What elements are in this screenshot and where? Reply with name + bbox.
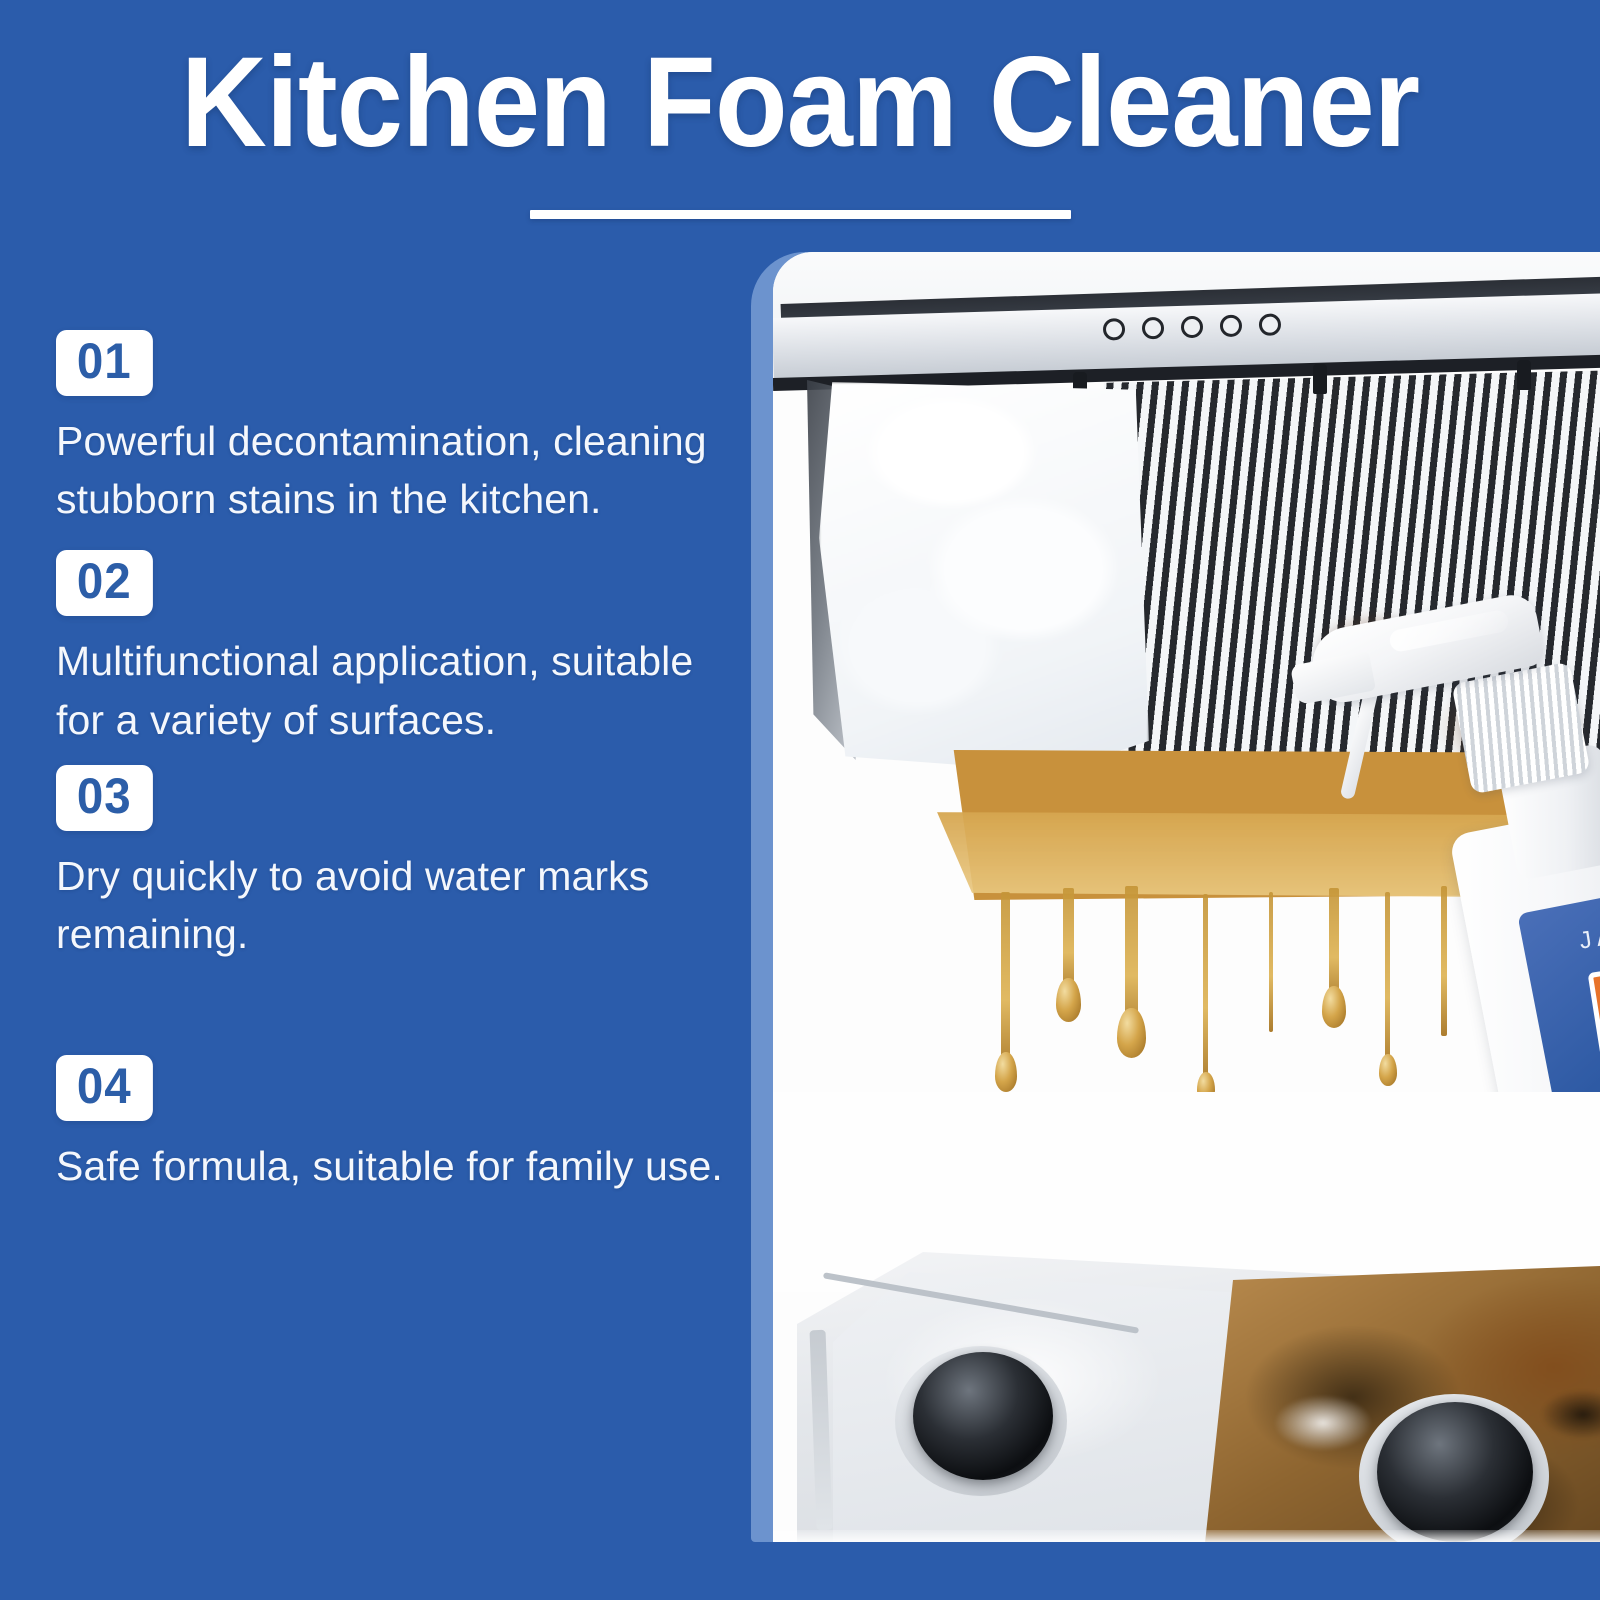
grease-drop — [995, 1052, 1017, 1092]
bottle-label-initial: F — [1588, 950, 1600, 1068]
burner-left — [913, 1352, 1053, 1480]
feature-description: Multifunctional application, suitable fo… — [56, 632, 746, 748]
grease-drip — [1001, 892, 1010, 1072]
page-title: Kitchen Foam Cleaner — [56, 34, 1544, 172]
grease-drop — [1117, 1008, 1146, 1058]
list-item: 02 Multifunctional application, suitable… — [56, 550, 746, 748]
list-item: 03 Dry quickly to avoid water marks rema… — [56, 765, 746, 963]
photo-white-gap — [773, 1092, 1600, 1292]
grease-drip — [1203, 894, 1208, 1084]
list-item: 01 Powerful decontamination, cleaning st… — [56, 330, 746, 528]
feature-description: Powerful decontamination, cleaning stubb… — [56, 412, 746, 528]
list-item: 04 Safe formula, suitable for family use… — [56, 1055, 746, 1195]
bottle-brand-text: JAV — [1578, 919, 1600, 956]
feature-number-badge: 03 — [56, 765, 153, 831]
hood-hook-icon — [1313, 364, 1327, 394]
feature-description: Dry quickly to avoid water marks remaini… — [56, 847, 746, 963]
grease-drop — [1056, 978, 1081, 1022]
hood-button-icon — [1142, 317, 1165, 340]
hood-hook-icon — [1517, 360, 1531, 390]
product-infographic-poster: Kitchen Foam Cleaner 01 Powerful deconta… — [0, 0, 1600, 1600]
photo-bottom-fade — [773, 1530, 1600, 1542]
spray-bottle: JAV F — [1293, 602, 1600, 1162]
feature-list: 01 Powerful decontamination, cleaning st… — [56, 330, 746, 1204]
hood-button-icon — [1103, 318, 1126, 341]
feature-number-badge: 01 — [56, 330, 153, 396]
hood-button-icon — [1259, 313, 1282, 336]
feature-number-badge: 02 — [56, 550, 153, 616]
burner-right — [1377, 1402, 1533, 1542]
foam-patch — [819, 382, 1149, 772]
product-photo-panel: JAV F — [751, 252, 1600, 1542]
title-block: Kitchen Foam Cleaner — [0, 34, 1600, 219]
bottle-ribbed-collar — [1451, 662, 1590, 795]
feature-number-badge: 04 — [56, 1055, 153, 1121]
feature-description: Safe formula, suitable for family use. — [56, 1137, 746, 1195]
grease-drip — [1269, 892, 1273, 1032]
hood-button-icon — [1220, 315, 1243, 338]
hood-button-icon — [1181, 316, 1204, 339]
product-photo-image: JAV F — [773, 252, 1600, 1542]
title-underline-rule — [530, 210, 1071, 219]
